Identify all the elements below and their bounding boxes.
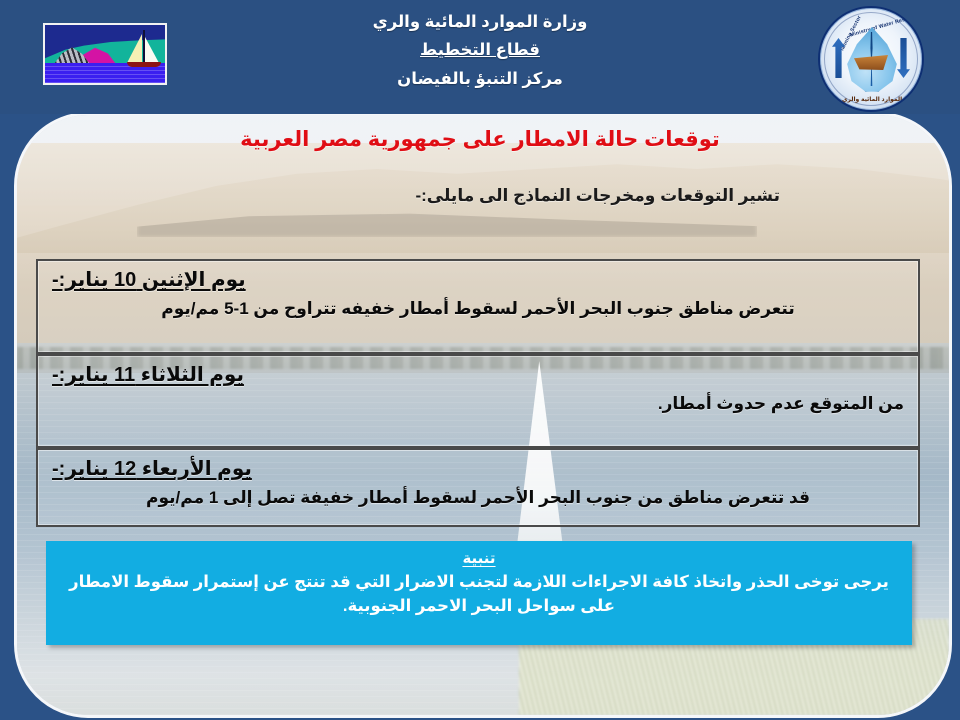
logo-left-hull bbox=[127, 62, 161, 67]
nile-landscape-sailboat-logo bbox=[43, 23, 167, 85]
forecast-day-heading: يوم الإثنين 10 يناير:- bbox=[52, 267, 904, 292]
sector-name: قطاع التخطيط bbox=[180, 36, 780, 64]
bulletin-intro-line: تشير التوقعات ومخرجات النماذج الى مايلى:… bbox=[415, 186, 780, 206]
bulletin-title: توقعات حالة الامطار على جمهورية مصر العر… bbox=[0, 127, 960, 152]
logo-left-mast bbox=[143, 30, 145, 64]
forecast-day-heading: يوم الأربعاء 12 يناير:- bbox=[52, 456, 904, 481]
center-name: مركز التنبؤ بالفيضان bbox=[180, 65, 780, 93]
bulletin-page: وزارة الموارد المائية والري قطاع التخطيط… bbox=[0, 0, 960, 720]
forecast-box-wednesday: يوم الأربعاء 12 يناير:- قد تتعرض مناطق م… bbox=[36, 448, 920, 527]
warning-notice-box: تنبية يرجى توخى الحذر واتخاذ كافة الاجرا… bbox=[46, 541, 912, 645]
ministry-name: وزارة الموارد المائية والري bbox=[180, 8, 780, 36]
warning-text: يرجى توخى الحذر واتخاذ كافة الاجراءات ال… bbox=[66, 571, 892, 619]
forecast-day-heading: يوم الثلاثاء 11 يناير:- bbox=[52, 362, 904, 387]
warning-heading: تنبية bbox=[66, 549, 892, 567]
forecast-box-tuesday: يوم الثلاثاء 11 يناير:- من المتوقع عدم ح… bbox=[36, 354, 920, 448]
seal-text-ministry-ar: وزارة الموارد المائية والري bbox=[842, 96, 920, 103]
forecast-body-text: من المتوقع عدم حدوث أمطار. bbox=[52, 393, 904, 416]
page-title: وزارة الموارد المائية والري قطاع التخطيط… bbox=[180, 8, 780, 93]
forecast-box-monday: يوم الإثنين 10 يناير:- تتعرض مناطق جنوب … bbox=[36, 259, 920, 354]
forecast-body-text: تتعرض مناطق جنوب البحر الأحمر لسقوط أمطا… bbox=[52, 298, 904, 321]
forecast-body-text: قد تتعرض مناطق من جنوب البحر الأحمر لسقو… bbox=[52, 487, 904, 510]
ministry-water-droplet-seal: Planning Sector Ministry of Water Resour… bbox=[818, 6, 924, 112]
